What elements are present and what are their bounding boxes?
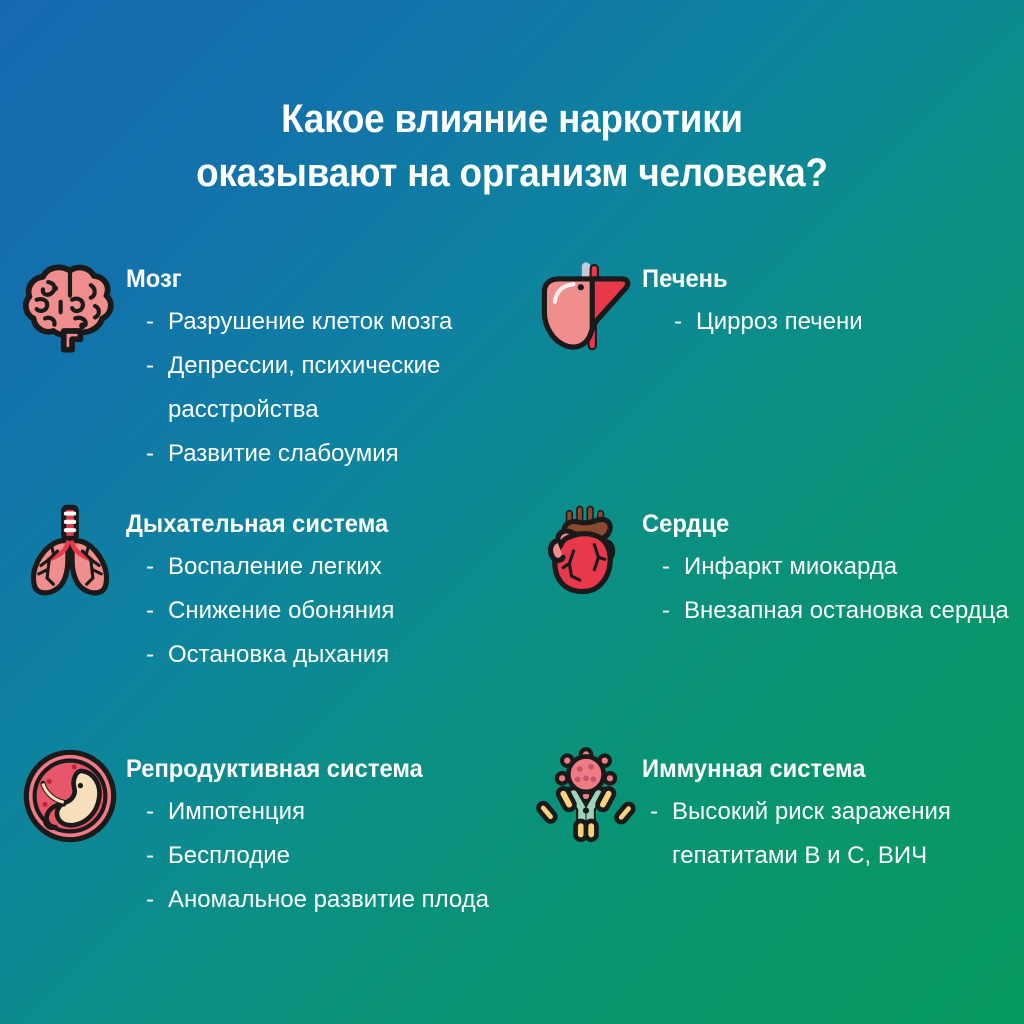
list-item: Высокий риск заражения гепатитами В и С,… [650,790,1024,878]
title-line-1: Какое влияние наркотики [41,92,983,146]
list-item: Цирроз печени [674,300,1024,344]
sections-grid: Мозг Разрушение клеток мозга Депрессии, … [0,250,1024,1020]
section-title-reproductive: Репродуктивная система [126,754,493,784]
page-title: Какое влияние наркотики оказывают на орг… [0,92,1024,200]
brain-text-column: Мозг Разрушение клеток мозга Депрессии, … [126,250,512,476]
liver-bullet-list: Цирроз печени [642,300,1024,344]
list-item: Остановка дыхания [146,633,512,677]
section-immune: Иммунная система Высокий риск заражения … [512,740,1024,1020]
list-item: Инфаркт миокарда [662,545,1024,589]
list-item: Депрессии, психические расстройства [146,344,512,432]
section-title-immune: Иммунная система [642,754,1005,784]
section-respiratory: Дыхательная система Воспаление легких Сн… [0,495,512,740]
title-line-2: оказывают на организм человека? [41,146,983,200]
infographic-poster: Какое влияние наркотики оказывают на орг… [0,0,1024,1024]
brain-icon [14,250,126,362]
section-reproductive: Репродуктивная система Импотенция Беспло… [0,740,512,1020]
heart-text-column: Сердце Инфаркт миокарда Внезапная остано… [642,495,1024,633]
section-title-heart: Сердце [642,509,1005,539]
liver-icon [530,250,642,362]
list-item: Снижение обоняния [146,589,512,633]
fetus-icon [14,740,126,852]
list-item: Бесплодие [146,834,512,878]
list-item: Воспаление легких [146,545,512,589]
list-item: Аномальное развитие плода [146,878,512,922]
section-title-respiratory: Дыхательная система [126,509,493,539]
reproductive-text-column: Репродуктивная система Импотенция Беспло… [126,740,512,922]
list-item: Разрушение клеток мозга [146,300,512,344]
section-heart: Сердце Инфаркт миокарда Внезапная остано… [512,495,1024,740]
list-item: Внезапная остановка сердца [662,589,1024,633]
lungs-icon [14,495,126,607]
immune-text-column: Иммунная система Высокий риск заражения … [642,740,1024,878]
liver-text-column: Печень Цирроз печени [642,250,1024,344]
heart-bullet-list: Инфаркт миокарда Внезапная остановка сер… [642,545,1024,633]
brain-bullet-list: Разрушение клеток мозга Депрессии, психи… [126,300,512,476]
heart-icon [530,495,642,607]
list-item: Развитие слабоумия [146,432,512,476]
antibody-virus-icon [530,740,642,852]
immune-bullet-list: Высокий риск заражения гепатитами В и С,… [642,790,1024,878]
section-liver: Печень Цирроз печени [512,250,1024,495]
section-title-liver: Печень [642,264,1005,294]
respiratory-text-column: Дыхательная система Воспаление легких Сн… [126,495,512,677]
section-brain: Мозг Разрушение клеток мозга Депрессии, … [0,250,512,495]
respiratory-bullet-list: Воспаление легких Снижение обоняния Оста… [126,545,512,677]
list-item: Импотенция [146,790,512,834]
section-title-brain: Мозг [126,264,493,294]
reproductive-bullet-list: Импотенция Бесплодие Аномальное развитие… [126,790,512,922]
